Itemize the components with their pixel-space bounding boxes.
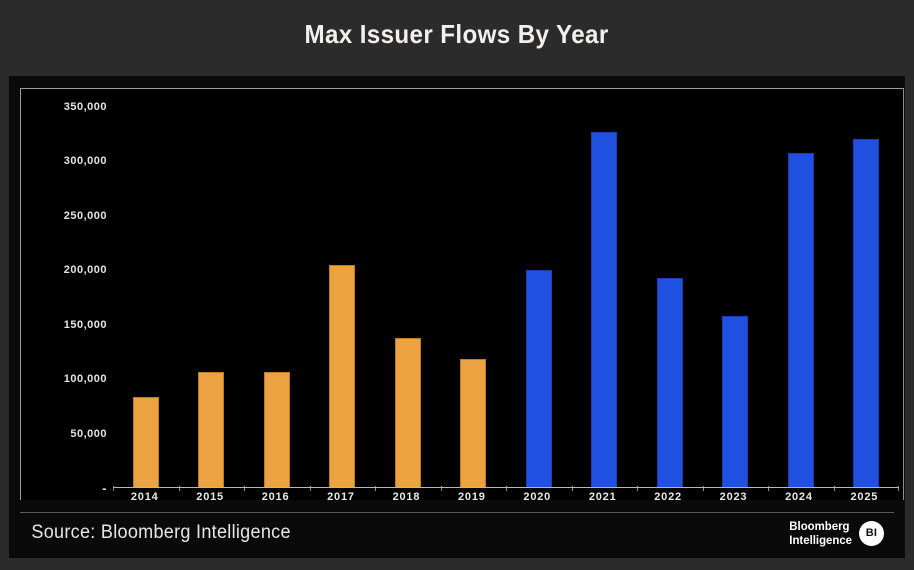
bar-2025[interactable]: [853, 139, 879, 487]
x-axis-label-2016: 2016: [243, 491, 308, 503]
title-bar: Max Issuer Flows By Year: [0, 0, 914, 69]
chart-screenshot: Max Issuer Flows By Year 350,000300,0002…: [0, 0, 914, 570]
chart-footer: Source: Bloomberg Intelligence Bloomberg…: [20, 512, 894, 553]
bar-2016[interactable]: [264, 372, 290, 487]
bar-2023[interactable]: [722, 316, 748, 487]
plot-frame: 350,000300,000250,000200,000150,000100,0…: [20, 88, 904, 500]
x-axis-label-2020: 2020: [505, 491, 570, 503]
x-axis-label-2021: 2021: [570, 491, 635, 503]
bar-slot: [703, 107, 769, 487]
brand-line-2: Intelligence: [789, 533, 852, 547]
bar-2015[interactable]: [198, 372, 224, 487]
plot-area: [113, 107, 899, 488]
brand-line-1: Bloomberg: [789, 519, 852, 533]
bar-2022[interactable]: [657, 278, 683, 487]
x-axis-label-2014: 2014: [112, 491, 177, 503]
y-axis-tick-label: 150,000: [27, 319, 107, 331]
bar-slot: [375, 107, 441, 487]
bar-2018[interactable]: [395, 338, 421, 487]
bar-2014[interactable]: [133, 397, 159, 487]
y-axis-tick-label: 200,000: [27, 264, 107, 276]
page-title: Max Issuer Flows By Year: [305, 19, 609, 50]
x-axis-labels: 2014201520162017201820192020202120222023…: [112, 491, 897, 503]
bloomberg-intelligence-logo-icon: BI: [859, 521, 884, 546]
x-axis-label-2017: 2017: [308, 491, 373, 503]
x-axis-line: [113, 487, 899, 488]
y-axis-tick-label: -: [27, 481, 107, 496]
bar-slot: [179, 107, 245, 487]
bar-slot: [244, 107, 310, 487]
x-axis-label-2019: 2019: [439, 491, 504, 503]
bar-2020[interactable]: [526, 270, 552, 487]
bar-slot: [768, 107, 834, 487]
y-axis-tick-label: 350,000: [27, 101, 107, 113]
bar-series: [113, 107, 899, 487]
y-axis-tick-label: 50,000: [27, 428, 107, 440]
brand-name: Bloomberg Intelligence: [789, 519, 852, 547]
bar-2021[interactable]: [591, 132, 617, 487]
bar-slot: [441, 107, 507, 487]
y-axis-tick-label: 250,000: [27, 210, 107, 222]
x-axis-label-2023: 2023: [701, 491, 766, 503]
bar-2019[interactable]: [460, 359, 486, 487]
x-axis-label-2018: 2018: [374, 491, 439, 503]
bar-slot: [310, 107, 376, 487]
x-axis-label-2022: 2022: [635, 491, 700, 503]
bar-2017[interactable]: [329, 265, 355, 487]
x-axis-label-2025: 2025: [832, 491, 897, 503]
x-axis-label-2015: 2015: [177, 491, 242, 503]
bloomberg-brand: Bloomberg Intelligence BI: [786, 519, 894, 547]
y-axis-tick-label: 300,000: [27, 155, 107, 167]
bar-2024[interactable]: [788, 153, 814, 487]
bar-slot: [834, 107, 900, 487]
bar-slot: [113, 107, 179, 487]
bar-slot: [572, 107, 638, 487]
y-axis-tick-label: 100,000: [27, 373, 107, 385]
x-axis-label-2024: 2024: [766, 491, 831, 503]
bar-slot: [637, 107, 703, 487]
bar-slot: [506, 107, 572, 487]
source-label: Source: Bloomberg Intelligence: [20, 522, 291, 544]
chart-panel: 350,000300,000250,000200,000150,000100,0…: [9, 76, 905, 558]
